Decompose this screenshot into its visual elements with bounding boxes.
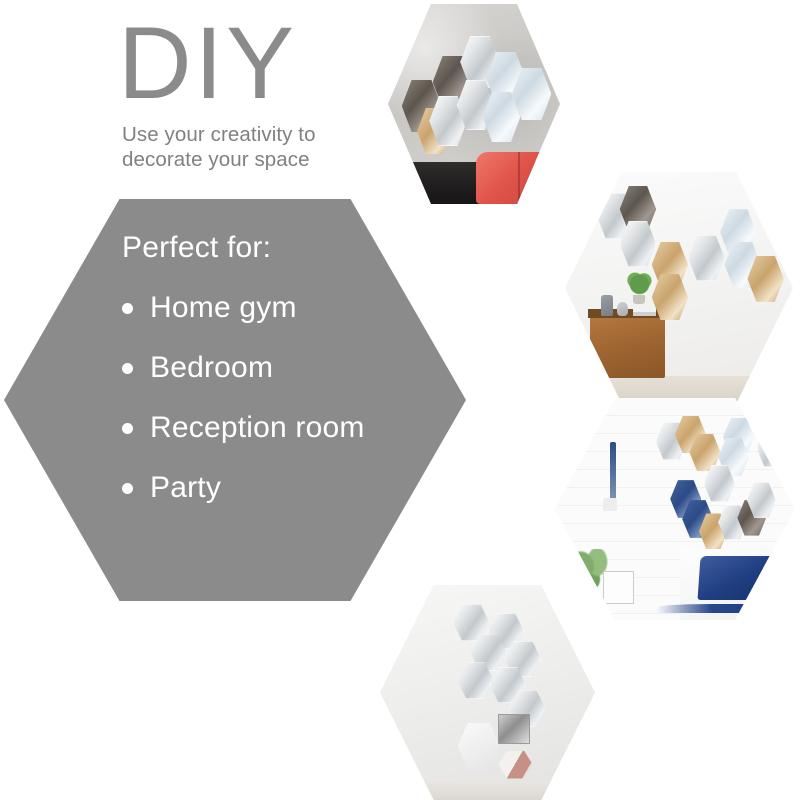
uses-list: Home gym Bedroom Reception room Party: [122, 291, 452, 505]
wooden-sideboard: [590, 316, 665, 379]
use-label: Reception room: [150, 411, 365, 445]
red-cushion: [476, 152, 555, 204]
bullet-dot-icon: [122, 423, 133, 434]
photo-hexagon-honeycomb-cluster: [380, 585, 595, 800]
floor-strip: [380, 781, 595, 800]
gray-vase: [601, 295, 612, 316]
page-title: DIY: [118, 14, 418, 114]
headline-subtitle-line-1: Use your creativity to: [122, 122, 418, 147]
wall-lamp: [603, 498, 617, 511]
uses-hexagon-panel: Perfect for: Home gym Bedroom Reception …: [4, 199, 466, 601]
stacked-books: [633, 308, 656, 316]
list-item: Reception room: [122, 411, 452, 445]
product-infographic: DIY Use your creativity to decorate your…: [0, 0, 800, 800]
navy-pillow: [697, 556, 782, 600]
headline-block: DIY Use your creativity to decorate your…: [118, 14, 418, 172]
photo-hexagon-bedroom-navy: [555, 398, 795, 620]
headline-subtitle: Use your creativity to decorate your spa…: [122, 122, 418, 172]
picture-frame: [603, 571, 634, 604]
list-item: Party: [122, 471, 452, 505]
list-item: Home gym: [122, 291, 452, 325]
wall-rod: [610, 442, 616, 500]
photo-hexagon-living-room-sideboard: [565, 172, 793, 404]
scene-living-room: [565, 172, 793, 404]
bed-trim: [656, 604, 795, 613]
bullet-dot-icon: [122, 363, 133, 374]
scene-honeycomb: [380, 585, 595, 800]
mirror-tile-reflection-photo: [498, 714, 530, 744]
list-item: Bedroom: [122, 351, 452, 385]
use-label: Bedroom: [150, 351, 273, 385]
round-vase: [617, 302, 627, 316]
uses-panel-content: Perfect for: Home gym Bedroom Reception …: [122, 231, 452, 505]
scene-bedroom: [555, 398, 795, 620]
uses-panel-heading: Perfect for:: [122, 231, 452, 265]
use-label: Home gym: [150, 291, 297, 325]
bullet-dot-icon: [122, 303, 133, 314]
headline-subtitle-line-2: decorate your space: [122, 147, 418, 172]
use-label: Party: [150, 471, 221, 505]
green-plant: [627, 269, 652, 297]
bullet-dot-icon: [122, 483, 133, 494]
